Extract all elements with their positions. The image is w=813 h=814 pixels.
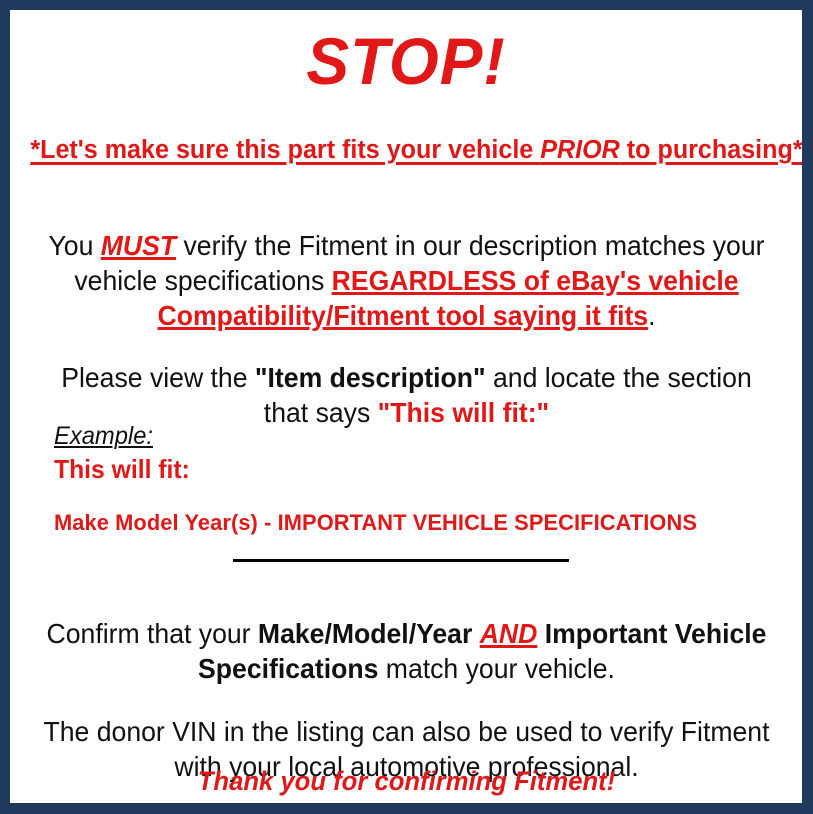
- make-model-year-emphasis: Make/Model/Year: [258, 618, 472, 649]
- notice-content-area: STOP! *Let's make sure this part fits yo…: [10, 10, 802, 803]
- item-description-emphasis: "Item description": [255, 362, 486, 393]
- subtitle-prior-emphasis: PRIOR: [540, 136, 620, 164]
- must-emphasis: MUST: [101, 230, 176, 261]
- itemdesc-text-1: Please view the: [61, 362, 255, 393]
- must-text-3: .: [648, 300, 655, 331]
- fitment-notice-card: STOP! *Let's make sure this part fits yo…: [0, 0, 813, 814]
- section-divider: [233, 559, 569, 562]
- must-text-1: You: [48, 230, 100, 261]
- subtitle-text-after: to purchasing*: [620, 136, 802, 164]
- confirm-text-1: Confirm that your: [47, 618, 258, 649]
- confirm-space-1: [472, 618, 479, 649]
- confirm-space-2: [537, 618, 544, 649]
- paragraph-confirm: Confirm that your Make/Model/Year AND Im…: [43, 616, 770, 686]
- subtitle-banner: *Let's make sure this part fits your veh…: [27, 134, 802, 166]
- thank-you-line: Thank you for confirming Fitment!: [43, 765, 770, 798]
- example-label: Example:: [54, 422, 738, 451]
- example-spec-line: Make Model Year(s) - IMPORTANT VEHICLE S…: [54, 509, 752, 537]
- example-block: Example: This will fit: Make Model Year(…: [54, 422, 774, 537]
- paragraph-item-description: Please view the "Item description" and l…: [43, 360, 770, 430]
- example-this-will-fit: This will fit:: [54, 453, 738, 485]
- and-emphasis: AND: [480, 618, 538, 649]
- paragraph-must-verify: You MUST verify the Fitment in our descr…: [43, 228, 770, 333]
- subtitle-text-before: *Let's make sure this part fits your veh…: [30, 136, 540, 164]
- stop-heading: STOP!: [22, 22, 790, 100]
- confirm-text-2: match your vehicle.: [378, 653, 615, 684]
